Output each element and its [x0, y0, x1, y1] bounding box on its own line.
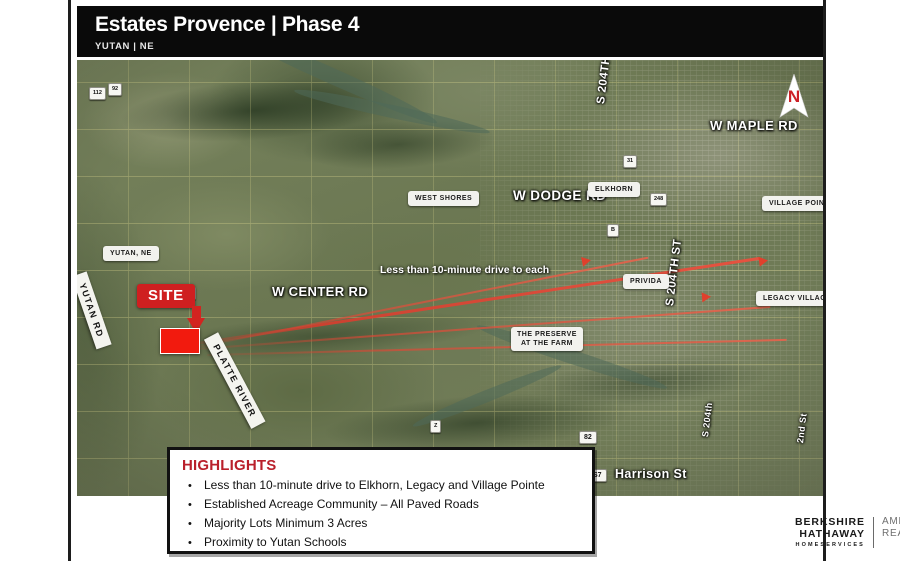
highlight-text: Less than 10-minute drive to Elkhorn, Le…: [204, 477, 545, 494]
route-shield-82[interactable]: 82: [579, 431, 597, 444]
brand-line-homeservices: HOMESERVICES: [795, 540, 865, 550]
brand-line-hathaway: HATHAWAY: [795, 528, 865, 540]
route-shield-b[interactable]: B: [607, 224, 619, 237]
place-pill-the-preserve-at-the-farm[interactable]: THE PRESERVE AT THE FARM: [511, 327, 583, 351]
drive-ray-arrowhead: [702, 292, 712, 303]
list-item: • Proximity to Yutan Schools: [182, 534, 582, 552]
highlight-text: Proximity to Yutan Schools: [204, 534, 347, 551]
page-subtitle: YUTAN | NE: [95, 41, 823, 52]
bullet-icon: •: [182, 516, 204, 533]
place-pill-legacy-village[interactable]: LEGACY VILLAGE: [756, 291, 823, 306]
drive-ray-arrowhead: [758, 255, 768, 266]
place-pill-privida[interactable]: PRIVIDA: [623, 274, 669, 289]
road-label-harrison-st: Harrison St: [615, 467, 687, 481]
drive-time-note: Less than 10-minute drive to each: [380, 264, 549, 276]
bullet-icon: •: [182, 478, 204, 495]
highlights-title: HIGHLIGHTS: [182, 457, 582, 474]
place-pill-yutan-ne[interactable]: YUTAN, NE: [103, 246, 159, 261]
place-pill-west-shores[interactable]: WEST SHORES: [408, 191, 479, 206]
compass-north-icon: N: [779, 74, 809, 118]
page-title: Estates Provence | Phase 4: [95, 13, 823, 37]
place-pill-elkhorn[interactable]: ELKHORN: [588, 182, 640, 197]
affiliate-wordmark: AMBASSADOR REAL ESTATE: [874, 516, 900, 540]
brand-line-berkshire: BERKSHIRE: [795, 516, 865, 528]
highlights-box: HIGHLIGHTS • Less than 10-minute drive t…: [167, 447, 595, 554]
route-shield-112[interactable]: 112: [89, 87, 106, 100]
highlight-text: Established Acreage Community – All Pave…: [204, 496, 479, 513]
list-item: • Majority Lots Minimum 3 Acres: [182, 515, 582, 533]
route-shield-248[interactable]: 248: [650, 193, 667, 206]
list-item: • Established Acreage Community – All Pa…: [182, 496, 582, 514]
compass-letter: N: [788, 87, 800, 106]
berkshire-hathaway-wordmark: BERKSHIRE HATHAWAY HOMESERVICES: [795, 516, 873, 550]
highlight-text: Majority Lots Minimum 3 Acres: [204, 515, 367, 532]
place-pill-village-point[interactable]: VILLAGE POINT: [762, 196, 823, 211]
aerial-map[interactable]: W MAPLE RD W DODGE RD W CENTER RD S 204T…: [77, 60, 823, 496]
bullet-icon: •: [182, 497, 204, 514]
brand-logo: BERKSHIRE HATHAWAY HOMESERVICES AMBASSAD…: [795, 516, 900, 550]
site-parcel-highlight[interactable]: [160, 328, 200, 354]
route-shield-31[interactable]: 31: [623, 155, 637, 168]
route-shield-z[interactable]: Z: [430, 420, 441, 433]
preserve-line-1: THE PRESERVE: [517, 330, 577, 339]
road-label-w-center-rd: W CENTER RD: [272, 284, 368, 299]
affiliate-line-real-estate: REAL ESTATE: [882, 528, 900, 540]
route-shield-92[interactable]: 92: [108, 83, 122, 96]
drive-ray-arrowhead: [581, 255, 592, 267]
preserve-line-2: AT THE FARM: [517, 339, 577, 348]
bullet-icon: •: [182, 535, 204, 552]
affiliate-line-ambassador: AMBASSADOR: [882, 516, 900, 528]
road-label-w-maple-rd: W MAPLE RD: [710, 118, 798, 133]
site-badge[interactable]: SITE: [137, 284, 195, 308]
list-item: • Less than 10-minute drive to Elkhorn, …: [182, 477, 582, 495]
title-bar: Estates Provence | Phase 4 YUTAN | NE: [77, 6, 823, 57]
slide-frame: Estates Provence | Phase 4 YUTAN | NE W …: [68, 0, 826, 561]
